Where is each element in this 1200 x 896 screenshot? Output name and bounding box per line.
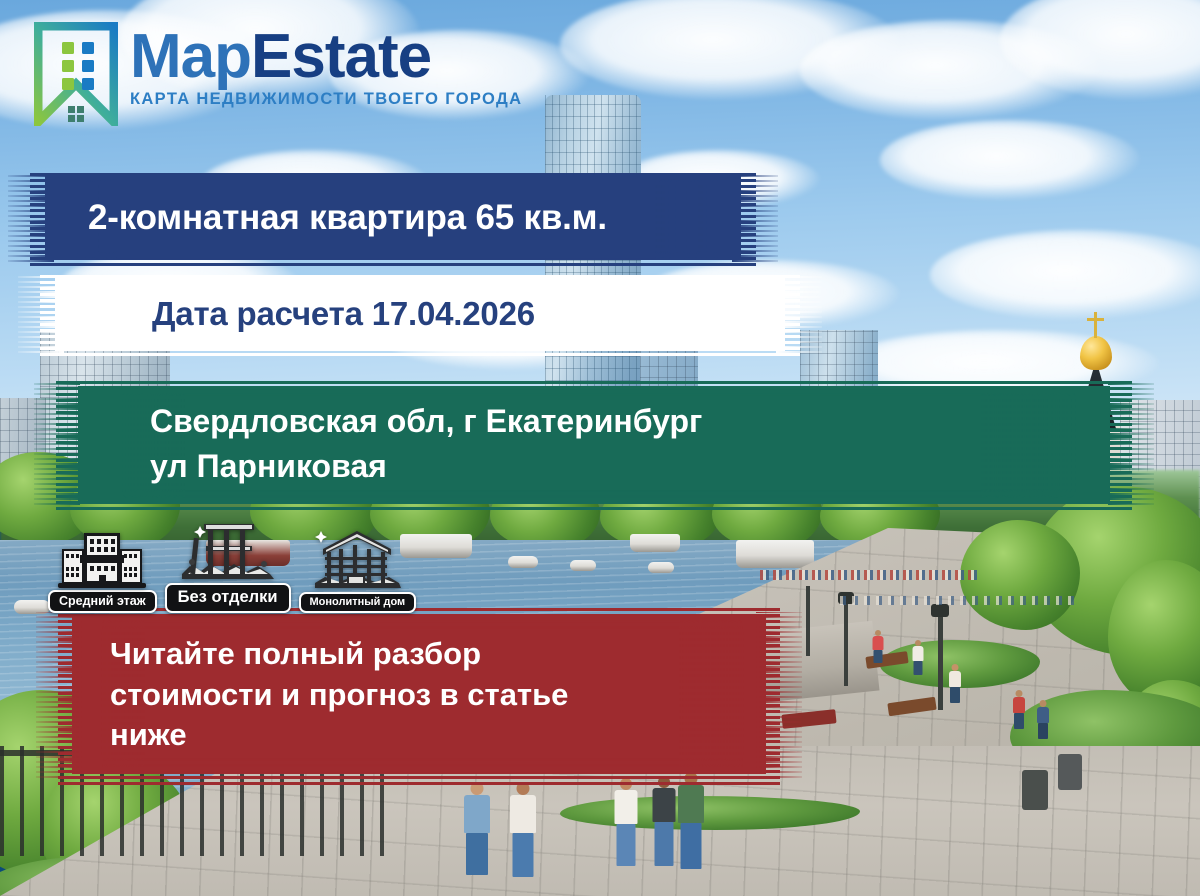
property-title-text: 2-комнатная квартира 65 кв.м.	[30, 198, 607, 238]
cta-text: Читайте полный разбор стоимости и прогно…	[58, 634, 568, 757]
brand-name-part2: Estate	[251, 22, 431, 91]
calculation-date-banner: Дата расчета 17.04.2026	[40, 272, 800, 356]
cloud	[880, 120, 1140, 200]
trash-bin	[1022, 770, 1048, 810]
brush-edge-right	[776, 275, 822, 352]
lamp-post	[938, 614, 943, 710]
pedestrian	[676, 772, 706, 872]
feature-badges: Средний этаж	[48, 516, 416, 613]
pedestrian	[1036, 700, 1049, 738]
brand-name-part1: Map	[130, 22, 251, 91]
small-boat	[508, 556, 538, 568]
boat	[736, 540, 814, 568]
bookmark-building-icon	[34, 22, 118, 126]
pedestrian	[462, 782, 492, 878]
brush-edge-right	[1108, 383, 1154, 504]
lamp-post	[806, 586, 810, 656]
crowd	[840, 596, 1080, 605]
badge-middle-floor[interactable]: Средний этаж	[48, 527, 157, 613]
boat	[630, 534, 680, 552]
small-boat	[570, 560, 596, 571]
pedestrian	[948, 664, 961, 702]
pedestrian	[872, 630, 884, 662]
property-title-banner: 2-комнатная квартира 65 кв.м.	[30, 170, 756, 266]
brand-name: MapEstate	[130, 28, 522, 85]
cta-line-2: стоимости и прогноз в статье	[110, 675, 568, 716]
lamp-head	[931, 604, 949, 617]
badge-label: Без отделки	[165, 583, 291, 613]
crowd	[760, 570, 980, 580]
badge-no-finishing[interactable]: Без отделки	[165, 516, 291, 613]
pedestrian	[612, 778, 640, 870]
apartment-building-icon	[56, 527, 148, 594]
bare-frame-icon	[178, 516, 278, 587]
cta-line-1: Читайте полный разбор	[110, 634, 568, 675]
pedestrian	[650, 776, 678, 870]
calculation-date-text: Дата расчета 17.04.2026	[40, 295, 535, 333]
small-boat	[648, 562, 674, 573]
lamp-post	[844, 600, 848, 686]
cta-line-3: ниже	[110, 715, 568, 756]
brand-tagline: КАРТА НЕДВИЖИМОСТИ ТВОЕГО ГОРОДА	[130, 90, 522, 109]
church-cross	[1094, 312, 1097, 338]
church-golden-dome	[1080, 336, 1112, 370]
monolithic-tower-icon	[305, 525, 409, 596]
brand-logo[interactable]: MapEstate КАРТА НЕДВИЖИМОСТИ ТВОЕГО ГОРО…	[34, 22, 522, 126]
address-line-1: Свердловская обл, г Екатеринбург	[150, 399, 702, 444]
pedestrian	[912, 640, 924, 674]
badge-monolithic-house[interactable]: Монолитный дом	[299, 525, 417, 613]
address-line-2: ул Парниковая	[150, 444, 702, 489]
address-text: Свердловская обл, г Екатеринбург ул Парн…	[56, 399, 702, 490]
brand-wordmark: MapEstate КАРТА НЕДВИЖИМОСТИ ТВОЕГО ГОРО…	[130, 22, 522, 109]
address-banner: Свердловская обл, г Екатеринбург ул Парн…	[56, 378, 1132, 510]
poster-canvas: MapEstate КАРТА НЕДВИЖИМОСТИ ТВОЕГО ГОРО…	[0, 0, 1200, 896]
trash-bin	[1058, 754, 1082, 790]
brush-edge-right	[756, 612, 802, 778]
pedestrian	[1012, 690, 1025, 728]
cta-banner[interactable]: Читайте полный разбор стоимости и прогно…	[58, 605, 780, 785]
brush-edge-right	[732, 174, 778, 262]
pedestrian	[508, 782, 538, 880]
